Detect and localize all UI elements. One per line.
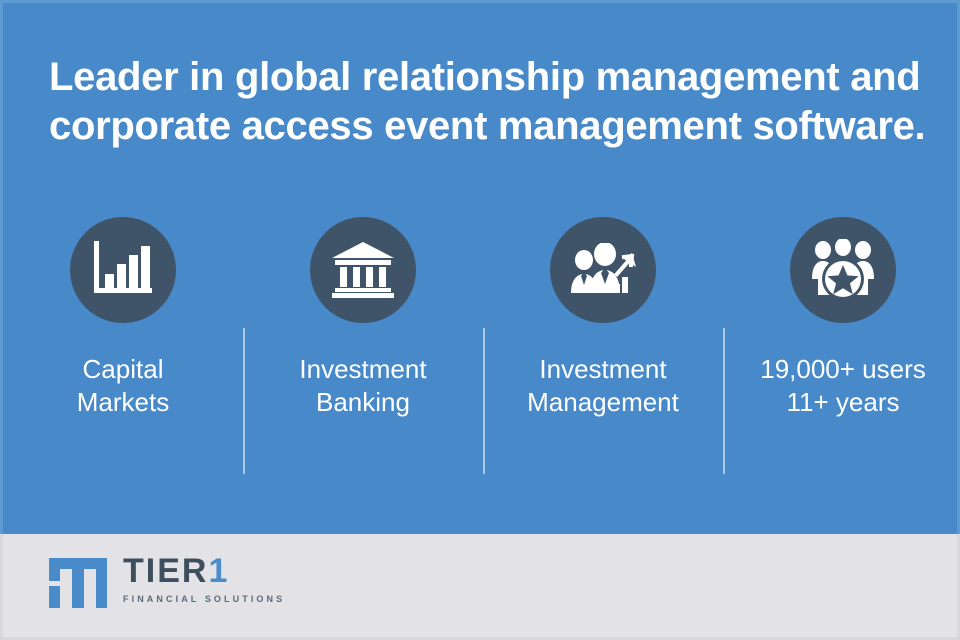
- businesspeople-growth-icon: [550, 217, 656, 323]
- tier1-logo[interactable]: TIER1 FINANCIAL SOLUTIONS: [49, 554, 285, 613]
- logo-tagline: FINANCIAL SOLUTIONS: [123, 594, 285, 604]
- feature-item-investment-management[interactable]: Investment Management: [483, 217, 723, 420]
- headline-line-2: corporate access event management softwa…: [49, 102, 925, 151]
- feature-label: Investment Management: [527, 353, 679, 420]
- feature-item-capital-markets[interactable]: Capital Markets: [3, 217, 243, 420]
- page-title: Leader in global relationship management…: [49, 53, 925, 151]
- marketing-banner: Leader in global relationship management…: [0, 0, 960, 640]
- tier1-logo-mark: [49, 558, 107, 613]
- logo-wordmark-main: TIER: [123, 552, 208, 590]
- footer-bar: TIER1 FINANCIAL SOLUTIONS Request a Demo: [0, 534, 960, 640]
- logo-wordmark: TIER1: [123, 554, 285, 588]
- feature-item-investment-banking[interactable]: Investment Banking: [243, 217, 483, 420]
- hero-section: Leader in global relationship management…: [0, 0, 960, 534]
- feature-label: Investment Banking: [299, 353, 426, 420]
- bank-building-icon: [310, 217, 416, 323]
- award-star-people-icon: [790, 217, 896, 323]
- feature-label: Capital Markets: [77, 353, 169, 420]
- feature-list: Capital Markets Investment Bankin: [3, 217, 960, 420]
- logo-wordmark-accent: 1: [208, 552, 229, 590]
- logo-text-block: TIER1 FINANCIAL SOLUTIONS: [123, 554, 285, 604]
- feature-label: 19,000+ users 11+ years: [760, 353, 926, 420]
- bar-chart-icon: [70, 217, 176, 323]
- headline-line-1: Leader in global relationship management…: [49, 53, 925, 102]
- feature-item-users-years[interactable]: 19,000+ users 11+ years: [723, 217, 960, 420]
